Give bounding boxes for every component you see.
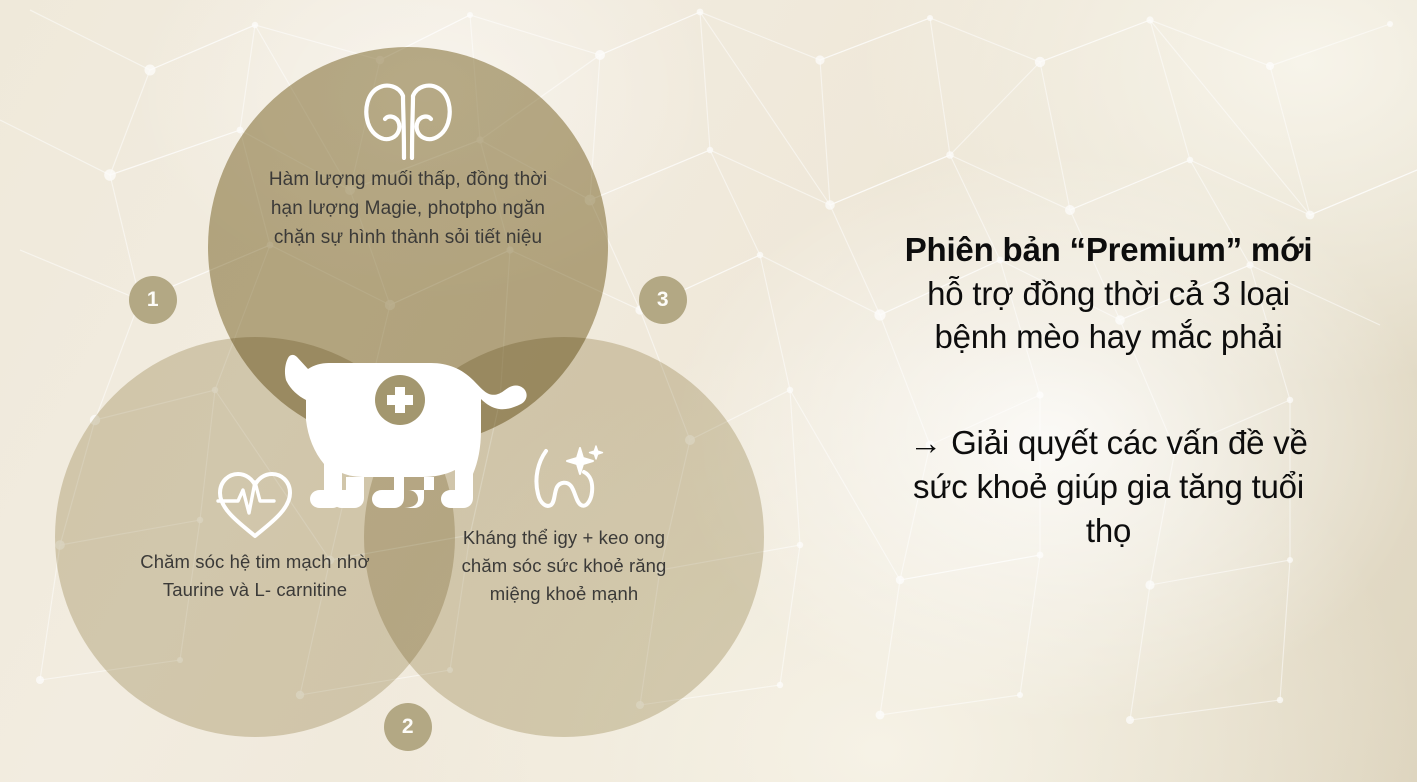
badge-two-label: 2 [402, 715, 414, 739]
arrow-right-icon: → [909, 424, 942, 461]
headline-bold-line: Phiên bản “Premium” mới [826, 228, 1391, 272]
badge-one-label: 1 [147, 288, 159, 312]
headline-line-3: bệnh mèo hay mắc phải [826, 315, 1391, 359]
badge-one[interactable]: 1 [129, 276, 177, 324]
conclusion-block: → Giải quyết các vấn đề về sức khoẻ giúp… [826, 421, 1391, 554]
headline-block: Phiên bản “Premium” mới hỗ trợ đồng thời… [826, 228, 1391, 359]
badge-three[interactable]: 3 [639, 276, 687, 324]
headline-line-2: hỗ trợ đồng thời cả 3 loại [826, 272, 1391, 316]
conclusion-line-2: sức khoẻ giúp gia tăng tuổi [826, 465, 1391, 509]
conclusion-line-3: thọ [826, 509, 1391, 553]
conclusion-line-1-text: Giải quyết các vấn đề về [951, 424, 1308, 461]
cat-silhouette [268, 338, 568, 528]
venn-diagram: Hàm lượng muối thấp, đồng thời hạn lượng… [0, 0, 800, 782]
badge-two[interactable]: 2 [384, 703, 432, 751]
badge-three-label: 3 [657, 288, 669, 312]
conclusion-line-1: → Giải quyết các vấn đề về [826, 421, 1391, 465]
right-text-panel: Phiên bản “Premium” mới hỗ trợ đồng thời… [800, 0, 1417, 782]
